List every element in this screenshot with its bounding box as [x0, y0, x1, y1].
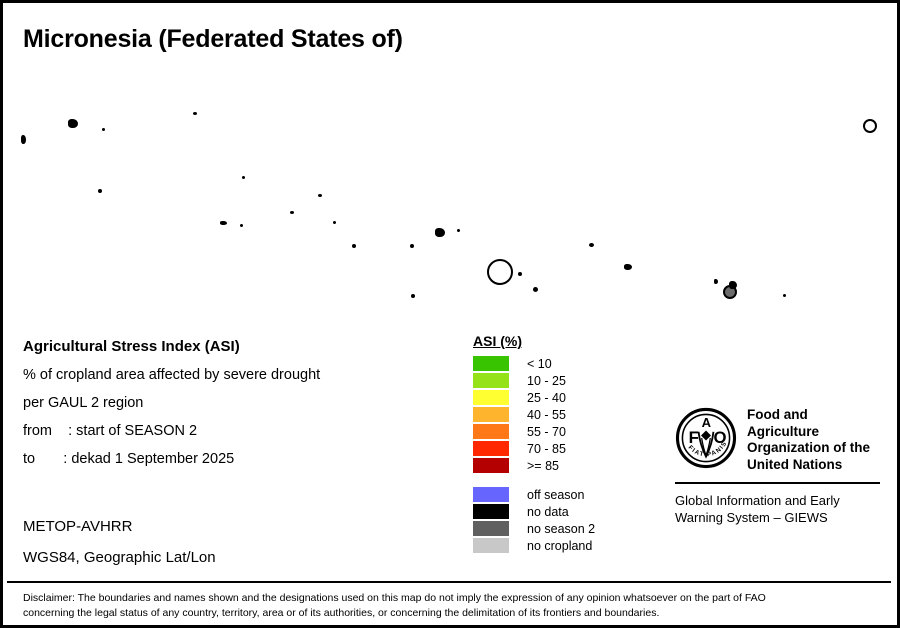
- map-island[interactable]: [457, 229, 460, 232]
- legend-title: ASI (%): [473, 333, 595, 349]
- legend-swatch: [473, 356, 509, 371]
- legend-row[interactable]: 25 - 40: [473, 389, 595, 406]
- period-to: to : dekad 1 September 2025: [23, 451, 453, 467]
- legend-label: 70 - 85: [527, 442, 566, 456]
- svg-text:A: A: [702, 415, 712, 430]
- map-island[interactable]: [714, 279, 718, 284]
- map-island[interactable]: [98, 189, 102, 193]
- map-island[interactable]: [242, 176, 245, 179]
- legend-row[interactable]: < 10: [473, 355, 595, 372]
- legend-swatch: [473, 441, 509, 456]
- map-island[interactable]: [193, 112, 197, 115]
- legend-row[interactable]: no cropland: [473, 537, 595, 554]
- map-island[interactable]: [333, 221, 336, 224]
- legend: ASI (%) < 1010 - 2525 - 4040 - 5555 - 70…: [473, 333, 595, 554]
- legend-swatch: [473, 538, 509, 553]
- legend-row[interactable]: no season 2: [473, 520, 595, 537]
- legend-swatch: [473, 424, 509, 439]
- giews-line2: Warning System – GIEWS: [675, 509, 880, 526]
- legend-row[interactable]: 10 - 25: [473, 372, 595, 389]
- legend-label: >= 85: [527, 459, 559, 473]
- legend-special-list: off seasonno datano season 2no cropland: [473, 486, 595, 554]
- fao-divider: [675, 482, 880, 484]
- disclaimer: Disclaimer: The boundaries and names sho…: [23, 591, 783, 620]
- asi-heading: Agricultural Stress Index (ASI): [23, 338, 453, 355]
- description-block: Agricultural Stress Index (ASI) % of cro…: [23, 338, 453, 479]
- legend-swatch: [473, 407, 509, 422]
- sensor-label: METOP-AVHRR: [23, 518, 216, 535]
- map-island[interactable]: [290, 211, 294, 214]
- fao-name-line2: Organization of the: [747, 440, 880, 457]
- map-island[interactable]: [624, 264, 632, 270]
- fao-block: F A O FIAT PANIS Food and Agriculture Or…: [675, 407, 880, 526]
- disclaimer-line1: Disclaimer: The boundaries and names sho…: [23, 591, 783, 606]
- asi-region-unit: per GAUL 2 region: [23, 395, 453, 411]
- map-island[interactable]: [589, 243, 594, 247]
- legend-row[interactable]: 55 - 70: [473, 423, 595, 440]
- map-island[interactable]: [487, 259, 513, 285]
- legend-label: no data: [527, 505, 569, 519]
- legend-label: no season 2: [527, 522, 595, 536]
- map-island[interactable]: [533, 287, 538, 292]
- legend-swatch: [473, 373, 509, 388]
- legend-row[interactable]: no data: [473, 503, 595, 520]
- page-title: Micronesia (Federated States of): [23, 25, 403, 54]
- legend-label: 40 - 55: [527, 408, 566, 422]
- map-island[interactable]: [352, 244, 356, 248]
- legend-label: off season: [527, 488, 584, 502]
- legend-class-list: < 1010 - 2525 - 4040 - 5555 - 7070 - 85>…: [473, 355, 595, 474]
- map-island[interactable]: [220, 221, 227, 225]
- legend-label: 10 - 25: [527, 374, 566, 388]
- legend-swatch: [473, 504, 509, 519]
- disclaimer-line2: concerning the legal status of any count…: [23, 606, 783, 621]
- projection-label: WGS84, Geographic Lat/Lon: [23, 549, 216, 566]
- giews-line1: Global Information and Early: [675, 492, 880, 509]
- fao-name-line3: United Nations: [747, 457, 880, 474]
- map-island[interactable]: [240, 224, 243, 227]
- map-island[interactable]: [435, 228, 445, 237]
- legend-swatch: [473, 521, 509, 536]
- legend-row[interactable]: >= 85: [473, 457, 595, 474]
- legend-label: 55 - 70: [527, 425, 566, 439]
- asi-definition: % of cropland area affected by severe dr…: [23, 367, 453, 383]
- legend-row[interactable]: 70 - 85: [473, 440, 595, 457]
- legend-spacer: [473, 474, 595, 486]
- fao-logo-icon: F A O FIAT PANIS: [675, 407, 737, 469]
- legend-label: no cropland: [527, 539, 592, 553]
- map-island[interactable]: [21, 135, 26, 144]
- legend-swatch: [473, 458, 509, 473]
- map-island[interactable]: [411, 294, 415, 298]
- legend-label: < 10: [527, 357, 552, 371]
- map-island[interactable]: [783, 294, 786, 297]
- svg-text:F: F: [689, 428, 699, 447]
- legend-swatch: [473, 487, 509, 502]
- map-island[interactable]: [318, 194, 322, 197]
- giews-name: Global Information and Early Warning Sys…: [675, 492, 880, 526]
- map-island[interactable]: [102, 128, 105, 131]
- legend-row[interactable]: off season: [473, 486, 595, 503]
- map-canvas[interactable]: [7, 59, 895, 309]
- legend-label: 25 - 40: [527, 391, 566, 405]
- map-island[interactable]: [729, 281, 737, 289]
- fao-name: Food and Agriculture Organization of the…: [747, 407, 880, 473]
- legend-swatch: [473, 390, 509, 405]
- disclaimer-divider: [7, 581, 891, 583]
- period-from: from : start of SEASON 2: [23, 423, 453, 439]
- map-island[interactable]: [863, 119, 877, 133]
- map-page: Micronesia (Federated States of) Agricul…: [0, 0, 900, 628]
- fao-name-line1: Food and Agriculture: [747, 407, 880, 440]
- source-block: METOP-AVHRR WGS84, Geographic Lat/Lon: [23, 518, 216, 580]
- map-island[interactable]: [518, 272, 522, 276]
- map-island[interactable]: [410, 244, 414, 248]
- map-island[interactable]: [68, 119, 78, 128]
- legend-row[interactable]: 40 - 55: [473, 406, 595, 423]
